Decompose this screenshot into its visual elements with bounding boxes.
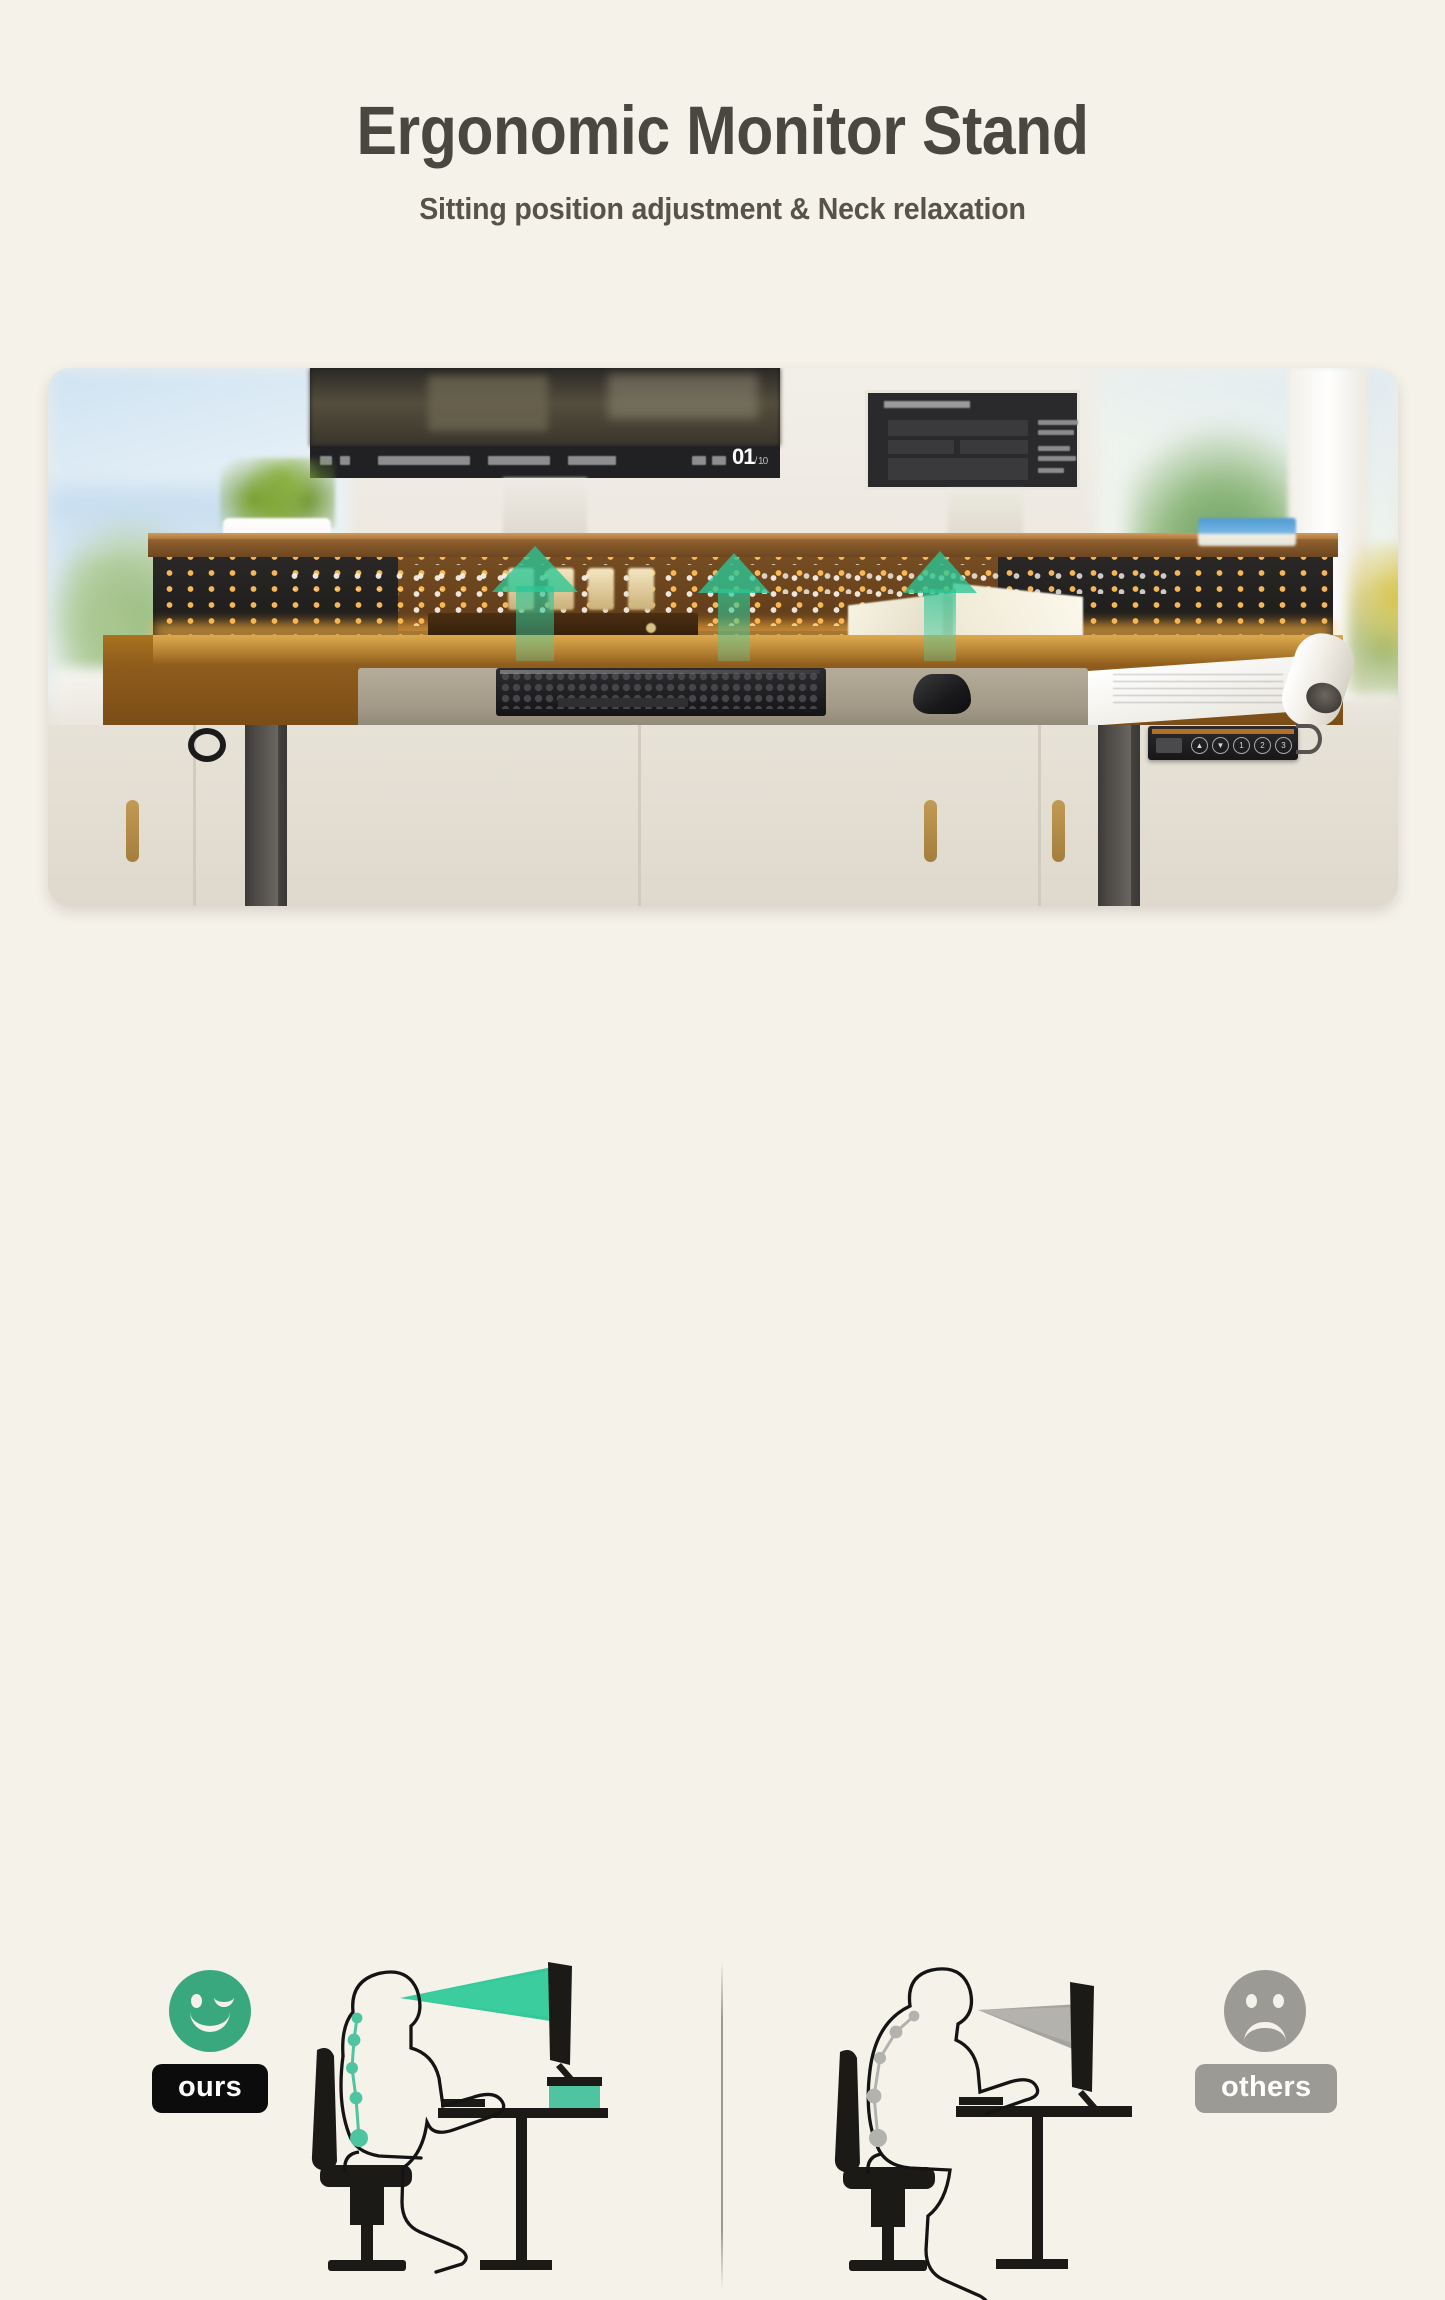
smiley-eye-left — [191, 1994, 202, 2008]
others-label: others — [1195, 2064, 1337, 2113]
ours-label: ours — [152, 2064, 268, 2113]
keyboard-highlight — [500, 670, 820, 674]
figurine-3 — [588, 568, 614, 610]
winking-smiley-face-icon — [169, 1970, 251, 2052]
header: Ergonomic Monitor Stand Sitting position… — [0, 95, 1445, 227]
headphone-hook — [1296, 724, 1322, 754]
infobar-icon-2 — [340, 456, 350, 465]
preset-3-button[interactable]: 3 — [1275, 737, 1292, 754]
monitor-stand-top-highlight — [148, 533, 1338, 539]
desk-leg-right-inner — [1107, 725, 1131, 906]
lift-arrow-center-icon — [698, 553, 770, 661]
right-monitor-side-4 — [1038, 456, 1076, 461]
left-monitor-stand — [503, 478, 587, 540]
right-monitor-heading — [884, 401, 970, 408]
hero-product-photo: 01/ 10 — [48, 368, 1398, 906]
page-subtitle: Sitting position adjustment & Neck relax… — [58, 191, 1387, 227]
right-monitor-side-2 — [1038, 430, 1074, 435]
up-arrow-button[interactable]: ▲ — [1191, 737, 1208, 754]
left-monitor-scene-a — [428, 376, 548, 431]
right-monitor-field-1 — [888, 420, 1028, 436]
down-arrow-button[interactable]: ▼ — [1212, 737, 1229, 754]
ours-posture-diagram — [295, 1960, 635, 2300]
sad-mouth — [1244, 2022, 1286, 2042]
sunflower-plant — [1348, 543, 1398, 693]
infobar-email — [488, 456, 550, 465]
sad-eye-right — [1273, 1994, 1284, 2008]
infobar-nav-prev — [692, 456, 706, 465]
shelf-tray-knob — [646, 623, 656, 633]
sad-eye-left — [1246, 1994, 1257, 2008]
comparison-section: ours — [0, 960, 1445, 1380]
lift-arrow-right-icon — [903, 551, 977, 661]
smiley-wink-eye — [214, 1996, 234, 2007]
keyboard-spacebar — [558, 698, 688, 707]
blue-device-on-shelf — [1198, 518, 1296, 546]
others-posture-diagram — [818, 1960, 1158, 2300]
desk-leg-left-inner — [254, 725, 278, 906]
preset-1-button[interactable]: 1 — [1233, 737, 1250, 754]
page-title: Ergonomic Monitor Stand — [87, 95, 1359, 167]
cabinet-handle-3 — [1052, 800, 1065, 862]
others-badge: others — [1195, 1970, 1335, 2113]
cabinet-handle-1 — [126, 800, 139, 862]
smiley-mouth — [190, 2010, 230, 2032]
computer-mouse — [913, 674, 971, 714]
comparison-divider — [721, 1960, 723, 2290]
right-monitor-message-field — [888, 458, 1028, 480]
preset-2-button[interactable]: 2 — [1254, 737, 1271, 754]
right-monitor-side-1 — [1038, 420, 1078, 425]
slide-counter: 01/ 10 — [732, 444, 767, 470]
ours-badge: ours — [140, 1970, 280, 2113]
cabinet-seam-2 — [638, 725, 641, 906]
cabinet-seam-3 — [1038, 725, 1041, 906]
sad-face-icon — [1224, 1970, 1306, 2052]
right-monitor-field-2 — [888, 440, 954, 454]
left-monitor-scene-b — [608, 374, 758, 419]
cabinet-handle-2 — [924, 800, 937, 862]
lift-arrow-left-icon — [492, 546, 578, 661]
cable-management-ring — [188, 728, 226, 762]
right-monitor-field-3 — [960, 440, 1028, 454]
infobar-address — [378, 456, 470, 465]
right-monitor-side-5 — [1038, 468, 1064, 473]
control-panel-led-strip — [1152, 729, 1294, 734]
infobar-nav-next — [712, 456, 726, 465]
right-monitor-side-3 — [1038, 446, 1070, 451]
blueprint-lines — [1113, 673, 1283, 703]
infobar-phone — [568, 456, 616, 465]
right-monitor-stand — [948, 490, 1023, 538]
figurine-4 — [628, 568, 654, 610]
height-display — [1156, 738, 1182, 753]
